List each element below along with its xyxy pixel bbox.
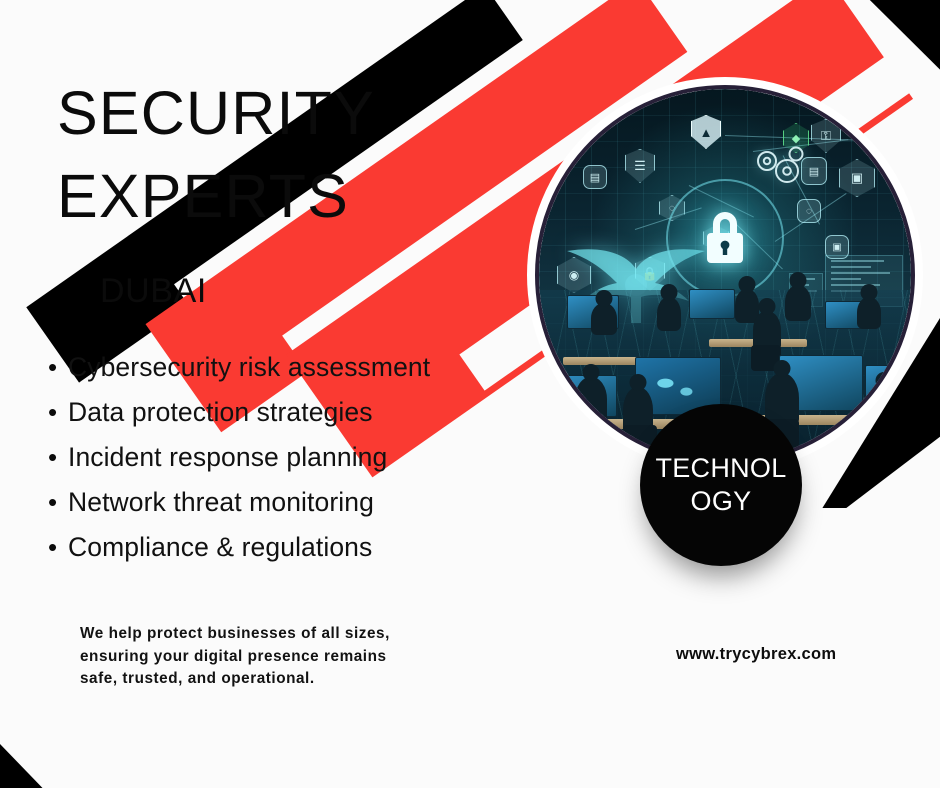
- analyst-silhouette: [785, 285, 811, 321]
- bullet-icon: •: [48, 354, 68, 380]
- tagline-paragraph: We help protect businesses of all sizes,…: [80, 623, 425, 691]
- monitor-icon: [689, 289, 735, 319]
- bullet-icon: •: [48, 399, 68, 425]
- service-label: Cybersecurity risk assessment: [68, 352, 430, 382]
- analyst-silhouette: [657, 297, 681, 331]
- service-label: Network threat monitoring: [68, 487, 374, 517]
- list-item: • Incident response planning: [48, 442, 430, 472]
- analyst-silhouette: [575, 377, 607, 423]
- headline-line-2: EXPERTS: [57, 165, 497, 227]
- technology-badge: TECHNOLOGY: [640, 404, 802, 566]
- analyst-silhouette: [857, 297, 881, 329]
- list-item: • Cybersecurity risk assessment: [48, 352, 430, 382]
- service-label: Data protection strategies: [68, 397, 373, 427]
- service-label: Incident response planning: [68, 442, 387, 472]
- bullet-icon: •: [48, 534, 68, 560]
- bullet-icon: •: [48, 444, 68, 470]
- analyst-silhouette: [765, 373, 799, 425]
- content-column: SECURITY EXPERTS DUBAI • Cybersecurity r…: [0, 0, 520, 788]
- services-list: • Cybersecurity risk assessment • Data p…: [48, 352, 430, 577]
- list-item: • Data protection strategies: [48, 397, 430, 427]
- fingerprint-icon: ◌: [797, 199, 821, 223]
- location-subtitle: DUBAI: [100, 272, 207, 311]
- bullet-icon: •: [48, 489, 68, 515]
- list-item: • Network threat monitoring: [48, 487, 430, 517]
- poster-canvas: SECURITY EXPERTS DUBAI • Cybersecurity r…: [0, 0, 940, 788]
- gear-icon: [751, 145, 809, 194]
- lock-icon: [666, 179, 784, 297]
- website-url[interactable]: www.trycybrex.com: [676, 645, 836, 664]
- technology-badge-label: TECHNOLOGY: [646, 452, 796, 519]
- list-item: • Compliance & regulations: [48, 532, 430, 562]
- service-label: Compliance & regulations: [68, 532, 372, 562]
- analyst-silhouette: [591, 303, 617, 335]
- document-icon: ▤: [583, 165, 607, 189]
- page-title: SECURITY EXPERTS: [57, 82, 497, 248]
- analyst-silhouette: [869, 385, 899, 429]
- document-icon: ▤: [861, 127, 883, 149]
- headline-line-1: SECURITY: [57, 82, 497, 144]
